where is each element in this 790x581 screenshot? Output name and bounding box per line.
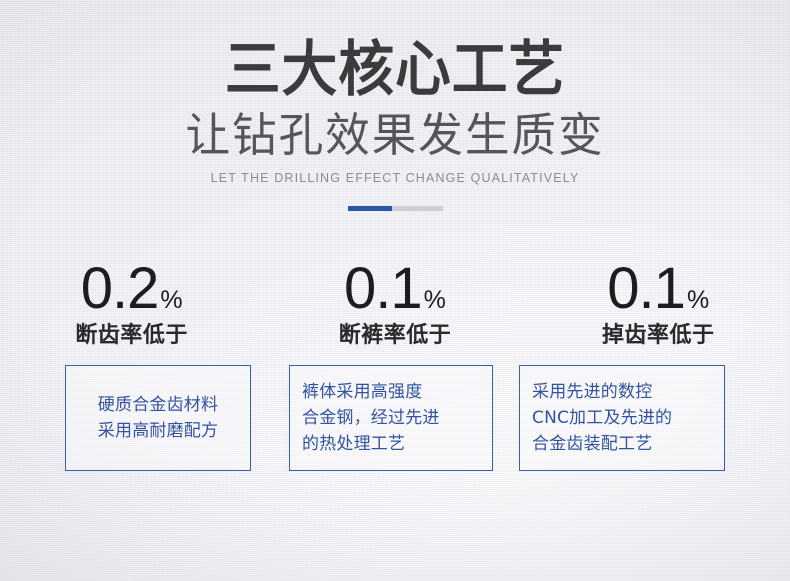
feature-box-1-text: 硬质合金齿材料 采用高耐磨配方 [98,392,218,444]
feature-box-1: 硬质合金齿材料 采用高耐磨配方 [65,365,251,471]
stat-label-3: 掉齿率低于 [602,323,715,349]
stat-number-2: 0.1 % [344,258,446,320]
stat-column-1: 0.2 % 断齿率低于 [0,258,263,349]
stat-label-1: 断齿率低于 [75,323,188,349]
page-subtitle: 让钻孔效果发生质变 [12,100,778,160]
stat-percent-2: % [424,284,446,316]
stat-value-1: 0.2 [81,258,159,320]
stat-value-2: 0.1 [344,258,422,320]
promo-banner: 三大核心工艺 让钻孔效果发生质变 LET THE DRILLING EFFECT… [0,0,790,581]
stat-column-2: 0.1 % 断裤率低于 [263,258,526,349]
page-subtitle-english: LET THE DRILLING EFFECT CHANGE QUALITATI… [0,160,790,185]
stats-row: 0.2 % 断齿率低于 0.1 % 断裤率低于 0.1 % 掉齿率低于 [0,258,790,349]
stat-number-3: 0.1 % [607,258,709,320]
stat-number-1: 0.2 % [81,258,183,320]
divider-segment-blue [348,206,392,211]
feature-boxes-row: 硬质合金齿材料 采用高耐磨配方 裤体采用高强度 合金钢，经过先进 的热处理工艺 … [0,365,790,471]
section-divider [348,206,443,211]
divider-segment-grey [392,206,443,211]
stat-label-2: 断裤率低于 [339,323,452,349]
stat-percent-1: % [160,284,182,316]
page-title: 三大核心工艺 [28,0,763,100]
feature-box-3: 采用先进的数控 CNC加工及先进的 合金齿装配工艺 [519,365,725,471]
stat-percent-3: % [687,284,709,316]
feature-box-2: 裤体采用高强度 合金钢，经过先进 的热处理工艺 [289,365,493,471]
feature-box-3-text: 采用先进的数控 CNC加工及先进的 合金齿装配工艺 [520,379,724,457]
header-block: 三大核心工艺 让钻孔效果发生质变 LET THE DRILLING EFFECT… [0,0,790,211]
stat-value-3: 0.1 [607,258,685,320]
stat-column-3: 0.1 % 掉齿率低于 [527,258,790,349]
feature-box-2-text: 裤体采用高强度 合金钢，经过先进 的热处理工艺 [290,379,492,457]
